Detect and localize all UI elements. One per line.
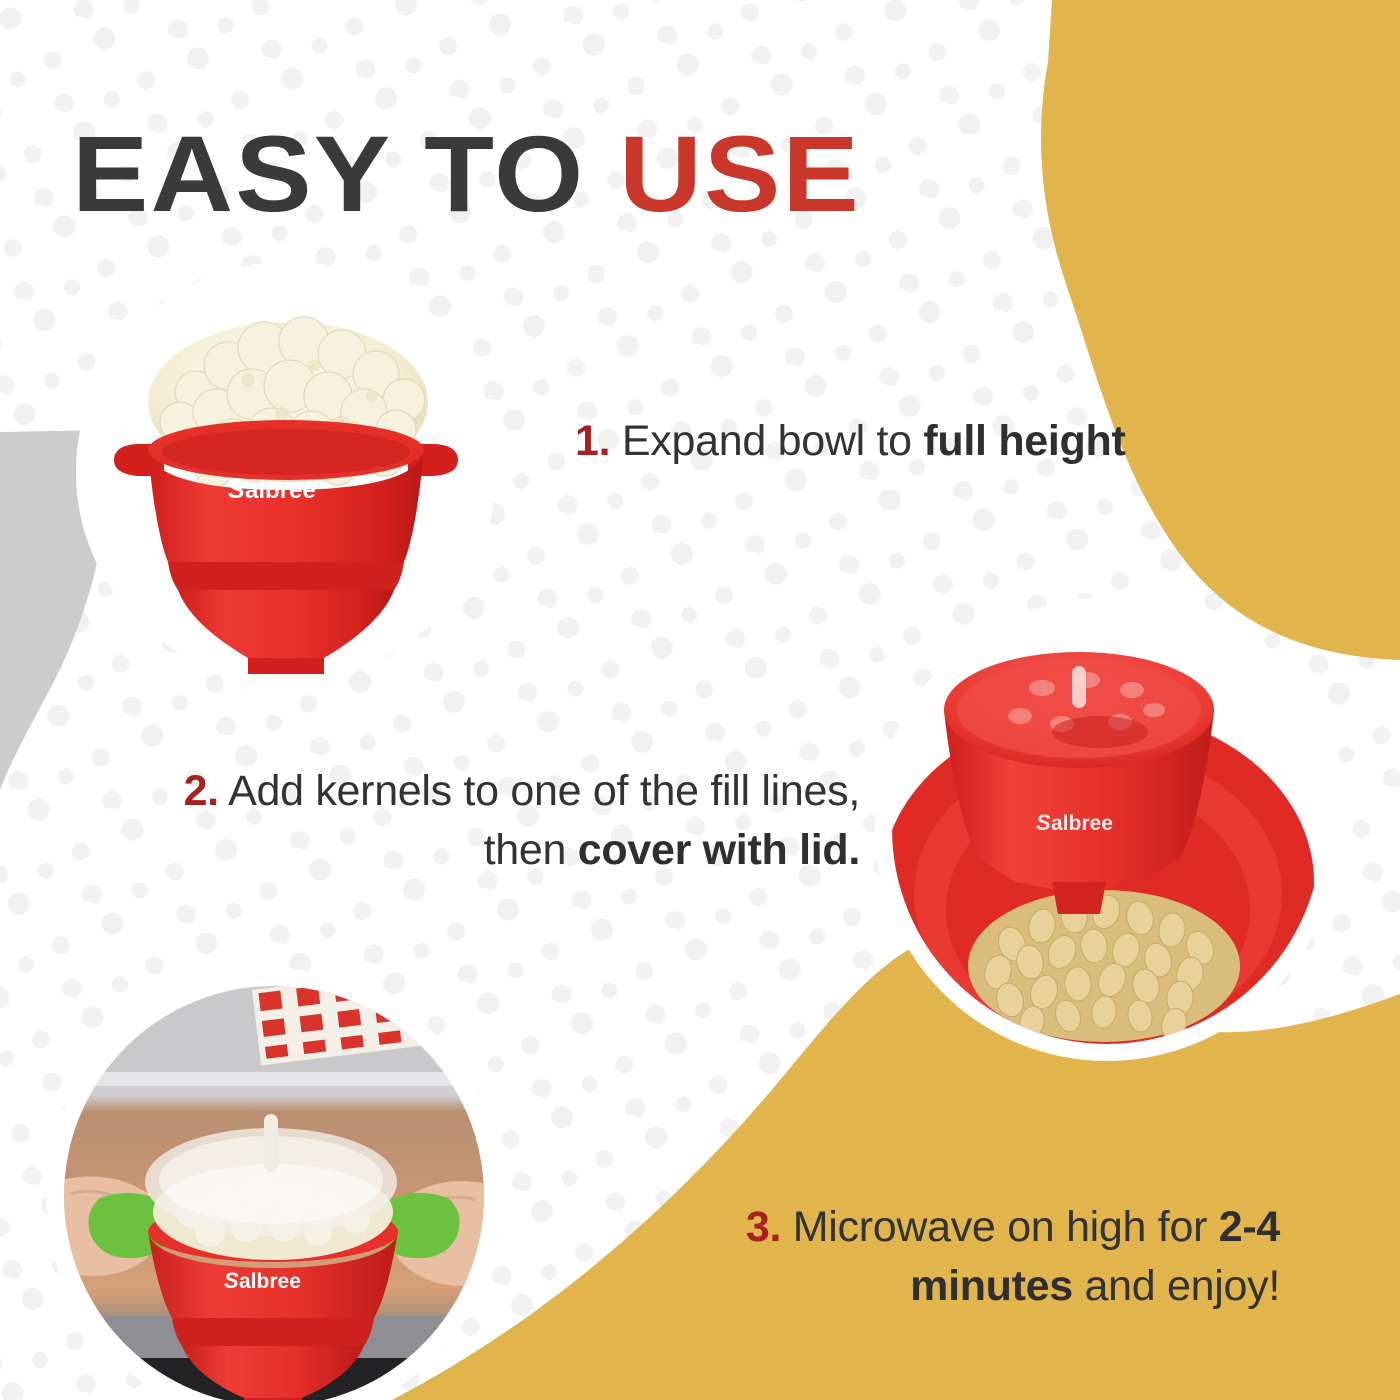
step-3-text-before: Microwave on high for — [781, 1203, 1219, 1251]
brand-wordmark: S albree — [1036, 810, 1113, 835]
step-2-number: 2. — [184, 767, 219, 815]
svg-text:albree: albree — [245, 477, 316, 504]
step-1-text-before: Expand bowl to — [610, 417, 923, 465]
step-3-image: S albree — [64, 986, 484, 1400]
brand-wordmark: S albree — [228, 476, 316, 504]
step-1-image: S albree — [76, 262, 496, 682]
gold-wave-bottom-right — [392, 930, 1400, 1400]
step-3-number: 3. — [746, 1203, 781, 1251]
bowl-foot — [248, 658, 324, 674]
corn-kernels-pile — [968, 890, 1240, 1043]
infographic-canvas: EASY TO USE — [0, 0, 1400, 1400]
kernels-through-lid — [1052, 716, 1148, 748]
step-3-text: 3. Microwave on high for 2-4 minutes and… — [600, 1198, 1280, 1317]
step-3-text-after: and enjoy! — [1073, 1262, 1280, 1310]
page-title-part-1: EASY TO — [72, 113, 619, 234]
page-title-part-2: USE — [619, 113, 861, 234]
bowl-stem — [1052, 882, 1106, 914]
step-1-number: 1. — [575, 417, 610, 465]
svg-text:S: S — [228, 476, 245, 504]
step-2-image: S albree — [892, 614, 1322, 1044]
svg-text:albree: albree — [1051, 812, 1113, 835]
page-title: EASY TO USE — [72, 120, 861, 228]
lid-handle — [264, 1114, 278, 1172]
step-2-text-bold: cover with lid. — [578, 826, 860, 874]
svg-text:S: S — [224, 1268, 239, 1293]
svg-text:albree: albree — [239, 1270, 301, 1293]
step-1-text: 1. Expand bowl to full height — [575, 412, 1275, 471]
gold-wave-top-right — [1041, 0, 1400, 660]
bowl-fold-ring — [168, 562, 404, 590]
bowl-fold-ring — [172, 1318, 374, 1346]
step-1-text-bold: full height — [923, 417, 1125, 465]
svg-text:S: S — [1036, 810, 1051, 835]
step-2-text: 2. Add kernels to one of the fill lines,… — [120, 762, 860, 881]
lid-handle — [1072, 666, 1086, 708]
brand-wordmark: S albree — [224, 1268, 301, 1293]
